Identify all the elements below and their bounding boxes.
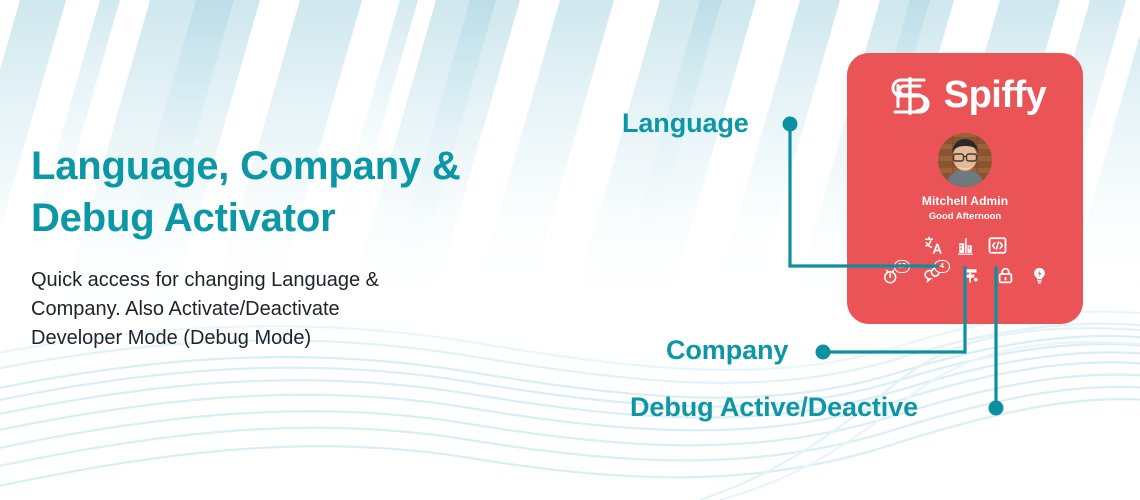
callout-label-company: Company bbox=[666, 335, 788, 366]
copy-block: Language, Company & Debug Activator Quic… bbox=[31, 140, 551, 353]
page-description: Quick access for changing Language & Com… bbox=[31, 266, 551, 353]
connector-language bbox=[790, 124, 937, 266]
page-title: Language, Company & Debug Activator bbox=[31, 140, 551, 244]
callout-label-debug: Debug Active/Deactive bbox=[630, 392, 918, 423]
connector-dot-company bbox=[816, 345, 831, 360]
promo-banner: Language, Company & Debug Activator Quic… bbox=[0, 0, 1140, 500]
connector-company bbox=[823, 268, 965, 352]
connector-dot-language bbox=[783, 117, 798, 132]
connector-dot-debug bbox=[989, 401, 1004, 416]
callout-label-language: Language bbox=[622, 108, 749, 139]
